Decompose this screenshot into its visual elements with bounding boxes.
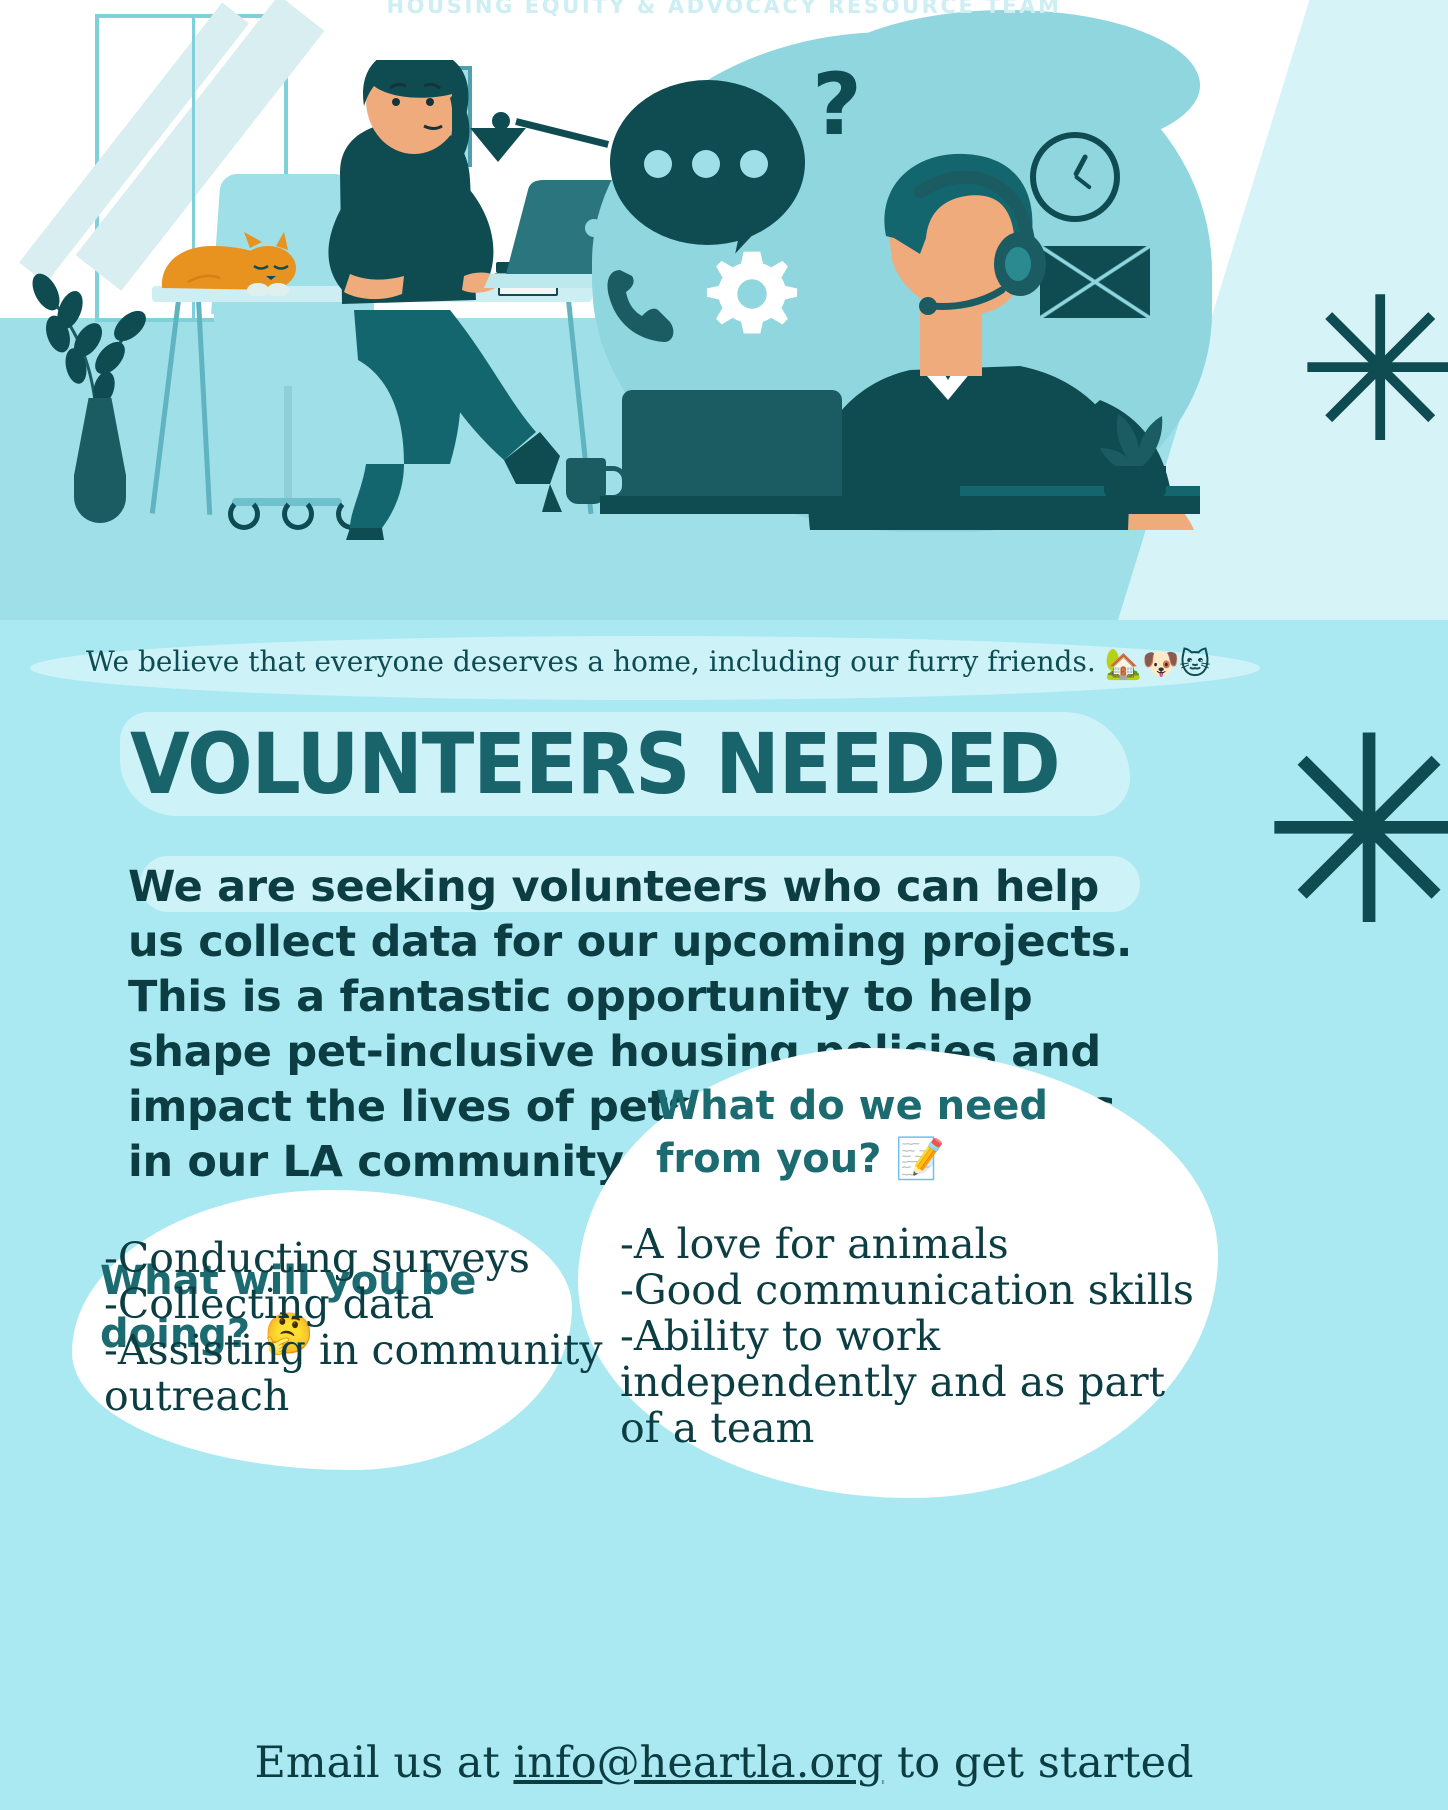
list-item: -Ability to work independently and as pa… [620, 1314, 1200, 1452]
footer-contact-line: Email us at info@heartla.org to get star… [0, 1738, 1448, 1788]
tagline: We believe that everyone deserves a home… [86, 645, 1326, 682]
panel-right-list: -A love for animals -Good communication … [620, 1222, 1200, 1452]
woman-at-laptop-illustration [254, 60, 574, 540]
list-item: -Conducting surveys [104, 1236, 604, 1282]
panel-right-heading: What do we need from you? 📝 [656, 1080, 1156, 1186]
asterisk-decoration-top: ✳ [1296, 300, 1448, 444]
speech-dot [692, 150, 720, 178]
question-mark-icon: ? [812, 62, 862, 148]
speech-dot [644, 150, 672, 178]
brand-banner: HOUSING EQUITY & ADVOCACY RESOURCE TEAM [0, 0, 1448, 18]
list-item: -Good communication skills [620, 1268, 1200, 1314]
phone-handset-icon [606, 268, 674, 344]
organization-name: HOUSING EQUITY & ADVOCACY RESOURCE TEAM [386, 0, 1061, 18]
plant-pot [1104, 466, 1166, 498]
agent-laptop-icon [622, 390, 842, 500]
list-item: -Collecting data [104, 1282, 604, 1328]
hero-illustration: ? [0, 0, 1448, 620]
footer-prefix: Email us at [254, 1738, 513, 1788]
speech-dot [740, 150, 768, 178]
tagline-text: We believe that everyone deserves a home… [86, 645, 1096, 678]
panel-left-list: -Conducting surveys -Collecting data -As… [104, 1236, 604, 1420]
memo-icon: 📝 [895, 1136, 945, 1182]
flyer-page: ? [0, 0, 1448, 1810]
panel-right-heading-text: What do we need from you? [656, 1083, 1048, 1182]
footer-suffix: to get started [883, 1738, 1193, 1788]
agent-desk-surface [600, 496, 1200, 514]
tagline-emojis: 🏡🐶🐱 [1105, 647, 1211, 682]
list-item: -A love for animals [620, 1222, 1200, 1268]
page-title: VOLUNTEERS NEEDED [130, 722, 1252, 806]
plant-icon [18, 248, 168, 413]
list-item: -Assisting in community outreach [104, 1328, 604, 1420]
email-link[interactable]: info@heartla.org [513, 1738, 883, 1788]
asterisk-decoration-middle: ✳ [1260, 740, 1448, 927]
